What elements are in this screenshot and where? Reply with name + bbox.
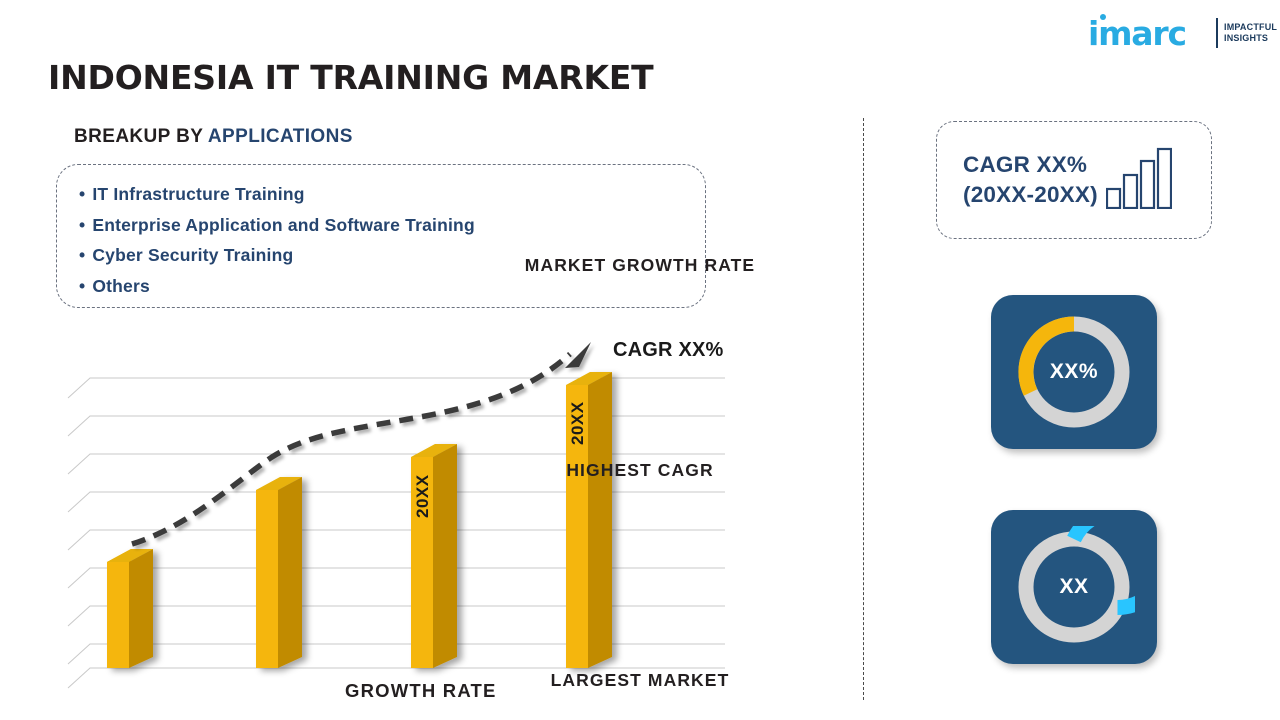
bar-2 (256, 477, 302, 668)
logo-tagline: IMPACTFUL INSIGHTS (1224, 22, 1277, 44)
growth-rate-bar-chart: 20XX 20XX (60, 330, 750, 700)
cagr-summary-text: CAGR XX% (20XX-20XX) (963, 150, 1098, 210)
logo-divider (1216, 18, 1218, 48)
bar-label-3: 20XX (413, 488, 433, 518)
cagr-trendline-label: CAGR XX% (613, 339, 724, 362)
ascending-bars-icon (1106, 147, 1172, 214)
bar-chart-svg (60, 330, 750, 700)
panel-divider (863, 118, 864, 700)
highest-cagr-tile: XX% (991, 295, 1157, 449)
bar-1 (107, 549, 153, 668)
highest-cagr-value: XX% (1050, 360, 1098, 384)
logo-tagline-line1: IMPACTFUL (1224, 22, 1277, 33)
page-title: INDONESIA IT TRAINING MARKET (48, 58, 654, 97)
applications-list: IT Infrastructure Training Enterprise Ap… (56, 164, 706, 308)
list-item: Enterprise Application and Software Trai… (79, 210, 705, 241)
cagr-trendline (132, 342, 591, 544)
logo-tagline-line2: INSIGHTS (1224, 33, 1277, 44)
largest-market-tile: XX (991, 510, 1157, 664)
chart-gridlines (68, 378, 725, 688)
largest-market-value: XX (1059, 575, 1088, 599)
cagr-summary-line1: CAGR XX% (963, 150, 1098, 180)
cagr-summary-line2: (20XX-20XX) (963, 180, 1098, 210)
breakup-heading-highlight: APPLICATIONS (208, 126, 353, 147)
bar-label-4: 20XX (568, 415, 588, 445)
largest-market-label: LARGEST MARKET (0, 670, 1280, 691)
breakup-heading: BREAKUP BY APPLICATIONS (74, 126, 353, 148)
market-growth-rate-label: MARKET GROWTH RATE (0, 255, 1280, 276)
list-item: IT Infrastructure Training (79, 179, 705, 210)
breakup-heading-prefix: BREAKUP BY (74, 126, 208, 147)
highest-cagr-label: HIGHEST CAGR (0, 460, 1280, 481)
logo-wordmark: imarc (1088, 17, 1186, 50)
imarc-logo: imarc IMPACTFUL INSIGHTS (1088, 14, 1268, 54)
cagr-summary-box: CAGR XX% (20XX-20XX) (936, 121, 1212, 239)
